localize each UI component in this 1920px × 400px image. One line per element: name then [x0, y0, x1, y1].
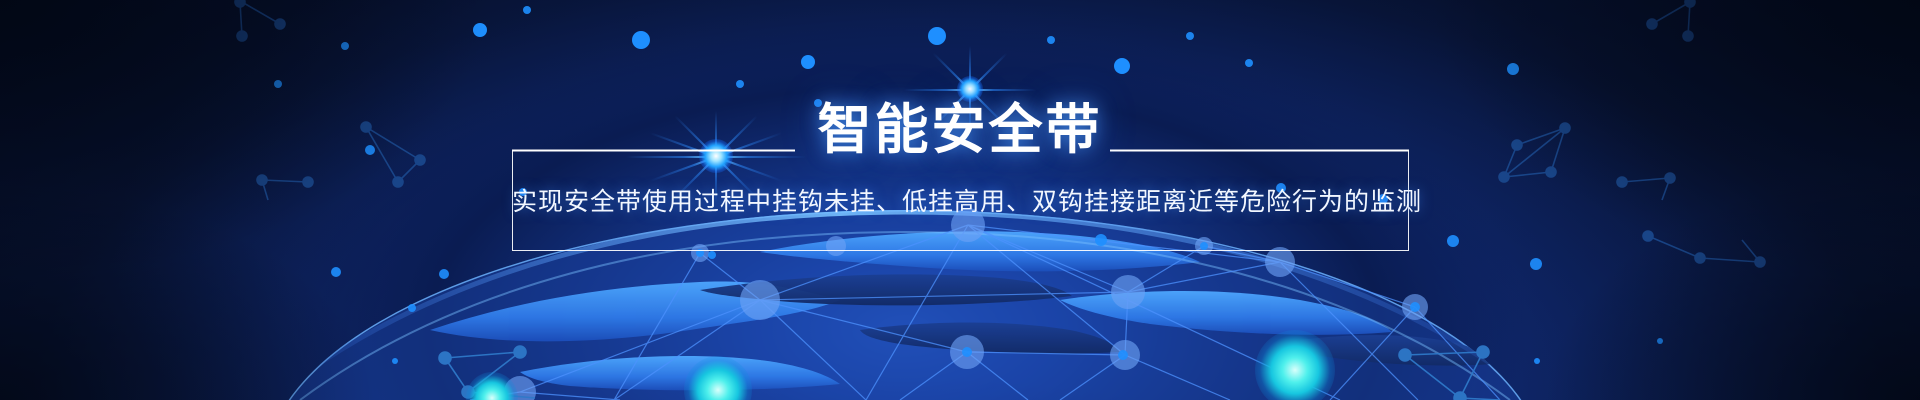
- accent-dot: [341, 42, 349, 50]
- accent-dot: [1534, 358, 1540, 364]
- page-title: 智能安全带: [0, 99, 1920, 161]
- accent-dot: [708, 251, 716, 259]
- accent-dot: [523, 6, 531, 14]
- accent-dot: [392, 358, 398, 364]
- accent-dot: [1186, 32, 1194, 40]
- accent-dot: [1114, 58, 1130, 74]
- accent-dot: [1118, 350, 1128, 360]
- hero-banner: 智能安全带 实现安全带使用过程中挂钩未挂、低挂高用、双钩挂接距离近等危险行为的监…: [0, 0, 1920, 400]
- accent-dot: [408, 304, 416, 312]
- accent-dot: [1410, 302, 1420, 312]
- accent-dot: [1047, 36, 1055, 44]
- accent-dot: [736, 80, 744, 88]
- accent-dot: [801, 55, 815, 69]
- accent-dot: [962, 347, 972, 357]
- accent-dot: [1507, 63, 1519, 75]
- accent-dot: [473, 23, 487, 37]
- accent-dot: [1245, 59, 1253, 67]
- accent-dot: [439, 269, 449, 279]
- accent-dot: [928, 27, 946, 45]
- accent-dot: [1447, 235, 1459, 247]
- page-subtitle: 实现安全带使用过程中挂钩未挂、低挂高用、双钩挂接距离近等危险行为的监测: [512, 186, 1409, 218]
- accent-dot: [274, 80, 282, 88]
- accent-dot: [1530, 258, 1542, 270]
- accent-dot: [632, 31, 650, 49]
- accent-dot: [331, 267, 341, 277]
- accent-dot: [1657, 338, 1663, 344]
